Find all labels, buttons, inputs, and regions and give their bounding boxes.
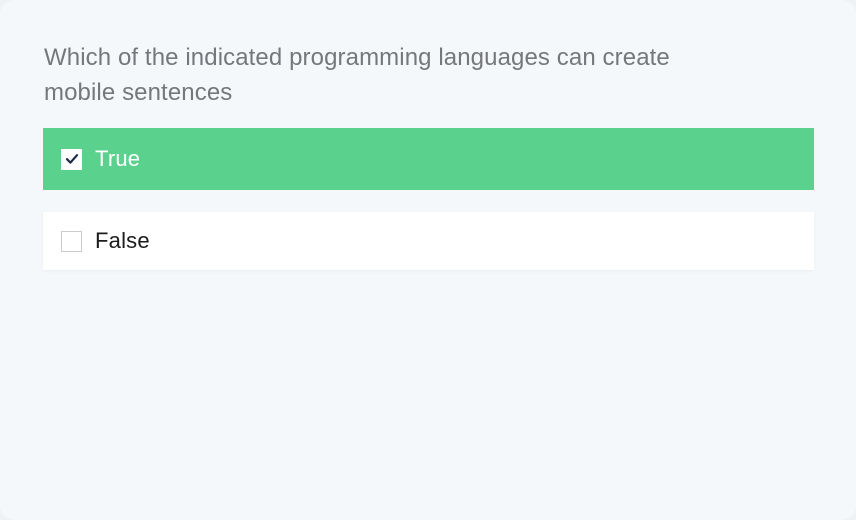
answer-option-label: True	[95, 148, 140, 170]
answer-option-label: False	[95, 230, 150, 252]
checkmark-icon	[65, 152, 79, 166]
quiz-page: Which of the indicated programming langu…	[0, 0, 856, 520]
answer-option-false[interactable]: False	[43, 212, 814, 270]
answer-option-true[interactable]: True	[43, 128, 814, 190]
answer-options-list: True False	[43, 128, 814, 270]
checkbox-unchecked-icon[interactable]	[61, 231, 82, 252]
question-text: Which of the indicated programming langu…	[44, 40, 774, 110]
checkbox-checked-icon[interactable]	[61, 149, 82, 170]
